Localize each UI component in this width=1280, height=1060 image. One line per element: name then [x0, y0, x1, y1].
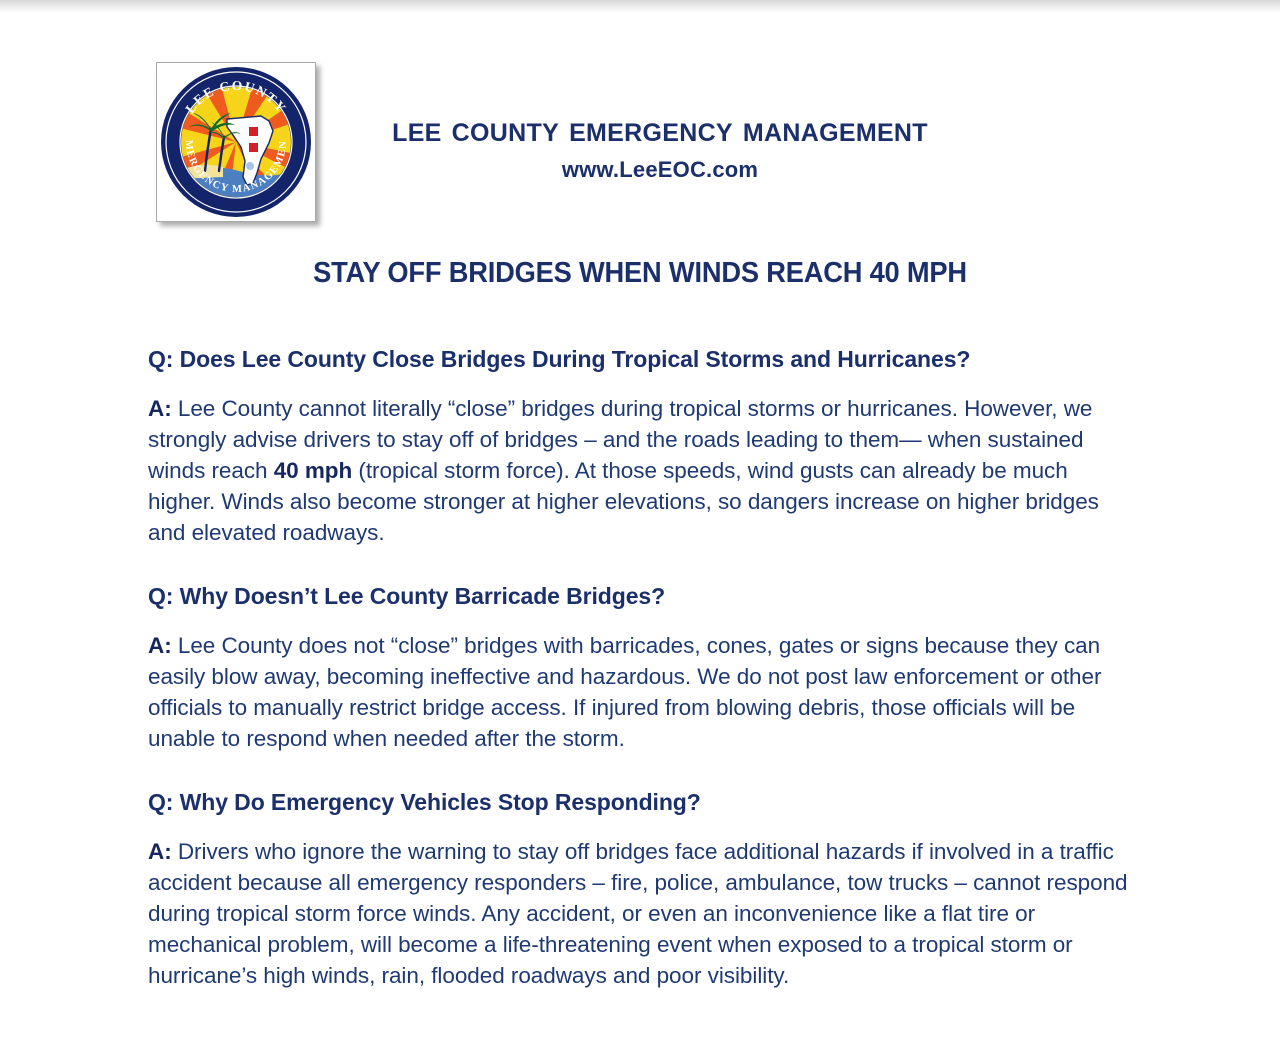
lee-county-emergency-management-logo: LEE COUNTY EMERGENCY MANAGEMENT	[156, 62, 316, 222]
organization-name: Lee County Emergency Management	[340, 110, 980, 150]
logo-seal-icon: LEE COUNTY EMERGENCY MANAGEMENT	[161, 67, 311, 217]
answer-label: A:	[148, 633, 172, 658]
faq-answer: A: Lee County cannot literally “close” b…	[148, 393, 1133, 548]
document-masthead: LEE COUNTY EMERGENCY MANAGEMENT Lee Coun…	[0, 62, 1280, 232]
answer-label: A:	[148, 396, 172, 421]
faq-item: Q: Why Doesn’t Lee County Barricade Brid…	[148, 581, 1133, 754]
faq-item: Q: Does Lee County Close Bridges During …	[148, 344, 1133, 548]
answer-label: A:	[148, 839, 172, 864]
organization-website: www.LeeEOC.com	[340, 156, 980, 184]
faq-question: Q: Does Lee County Close Bridges During …	[148, 344, 1133, 374]
page-title: STAY OFF BRIDGES WHEN WINDS REACH 40 MPH	[38, 255, 1241, 291]
faq-item: Q: Why Do Emergency Vehicles Stop Respon…	[148, 787, 1133, 991]
answer-text-part-1: Lee County does not “close” bridges with…	[148, 633, 1101, 751]
faq-content: Q: Does Lee County Close Bridges During …	[148, 344, 1133, 1024]
answer-text-part-1: Drivers who ignore the warning to stay o…	[148, 839, 1128, 988]
masthead-text-block: Lee County Emergency Management www.LeeE…	[340, 110, 980, 184]
document-page: LEE COUNTY EMERGENCY MANAGEMENT Lee Coun…	[0, 0, 1280, 1060]
faq-question: Q: Why Do Emergency Vehicles Stop Respon…	[148, 787, 1133, 817]
faq-answer: A: Drivers who ignore the warning to sta…	[148, 836, 1133, 991]
answer-emphasis: 40 mph	[274, 458, 352, 483]
faq-question: Q: Why Doesn’t Lee County Barricade Brid…	[148, 581, 1133, 611]
faq-answer: A: Lee County does not “close” bridges w…	[148, 630, 1133, 754]
